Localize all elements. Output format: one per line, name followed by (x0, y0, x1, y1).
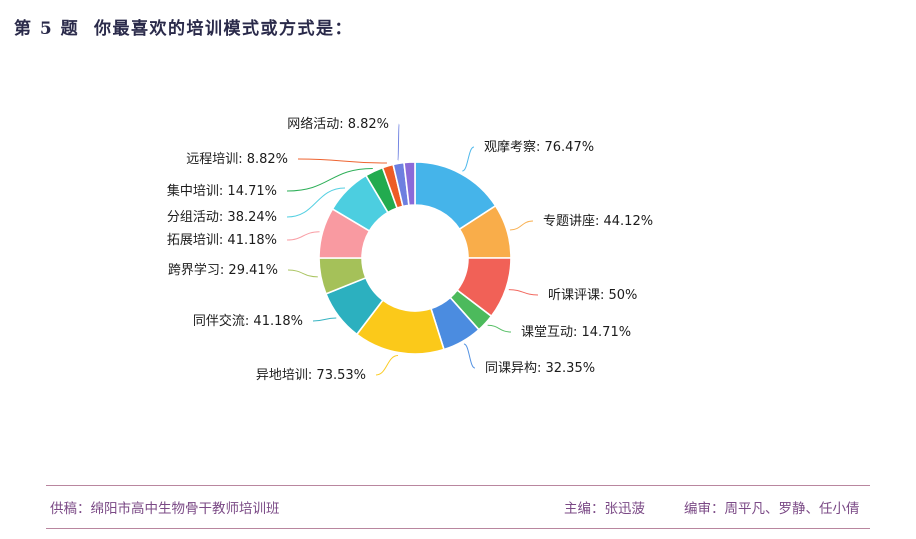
leader-line (488, 325, 511, 332)
leader-line (313, 318, 336, 321)
donut-slice-group (319, 162, 511, 354)
slice-label: 异地培训: 73.53% (256, 367, 366, 383)
slice-label: 课堂互动: 14.71% (521, 325, 631, 340)
footer-divider-bottom (46, 528, 870, 529)
slice-label: 集中培训: 14.71% (167, 183, 277, 199)
footer-reviewer-label: 编审：周平凡、罗静、任小倩 (684, 497, 860, 517)
leader-line (510, 221, 533, 230)
footer: 供稿：绵阳市高中生物骨干教师培训班 主编：张迅菠 编审：周平凡、罗静、任小倩 (0, 470, 916, 539)
leader-line (298, 159, 387, 163)
slice-label: 观摩考察: 76.47% (484, 139, 594, 155)
footer-divider-top (46, 485, 870, 486)
slice-label: 分组活动: 38.24% (167, 210, 277, 225)
leader-line (462, 147, 474, 171)
slice-label: 网络活动: 8.82% (287, 116, 389, 132)
slice-label: 跨界学习: 29.41% (168, 262, 278, 278)
donut-chart: 观摩考察: 76.47%专题讲座: 44.12%听课评课: 50%课堂互动: 1… (0, 52, 916, 452)
slice-label: 同课异构: 32.35% (485, 361, 595, 376)
leader-line (287, 232, 320, 240)
page-title: 第 5 题 你最喜欢的培训模式或方式是： (14, 14, 353, 39)
leader-line (509, 290, 538, 295)
leader-line (376, 356, 398, 375)
slice-label: 听课评课: 50% (548, 288, 637, 303)
slice-label: 专题讲座: 44.12% (543, 214, 653, 229)
leader-line (288, 270, 318, 277)
slice-label: 远程培训: 8.82% (186, 151, 288, 167)
slice-label: 拓展培训: 41.18% (167, 232, 277, 248)
donut-chart-svg: 观摩考察: 76.47%专题讲座: 44.12%听课评课: 50%课堂互动: 1… (0, 52, 916, 452)
slice-label: 同伴交流: 41.18% (193, 313, 303, 329)
footer-editor-label: 主编：张迅菠 (564, 497, 645, 517)
leader-line (398, 124, 399, 160)
leader-line (464, 344, 475, 368)
footer-source-label: 供稿：绵阳市高中生物骨干教师培训班 (50, 497, 280, 517)
